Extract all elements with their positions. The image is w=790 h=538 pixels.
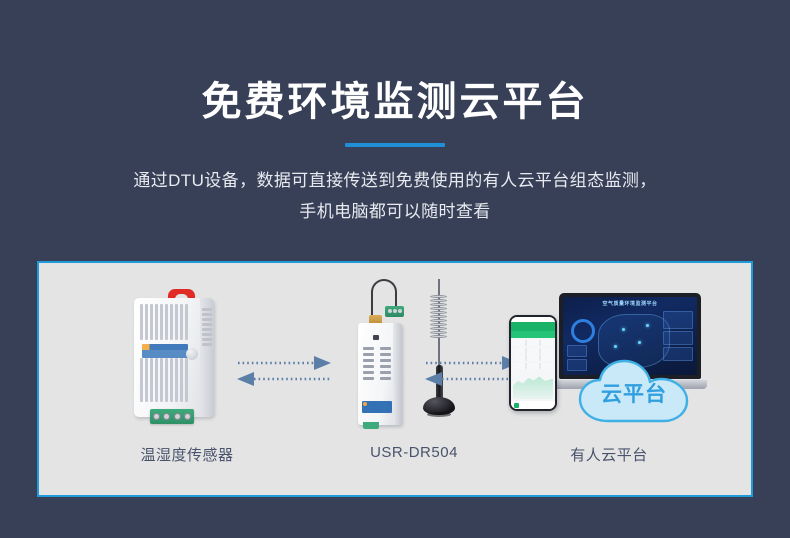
antenna-magnetic-base: [423, 397, 455, 415]
sensor-screw-knob: [186, 348, 198, 360]
caption-sensor: 温湿度传感器: [97, 444, 277, 465]
dtu-terminal-block: [385, 306, 404, 317]
dashboard-gauge-ring: [571, 319, 595, 343]
sensor-vents-bottom: [140, 358, 192, 402]
page-title: 免费环境监测云平台: [0, 78, 790, 126]
phone-data-table: [511, 338, 555, 369]
dtu-led-indicators: [363, 347, 391, 380]
dashboard-panel-card: [663, 331, 693, 345]
phone-app-subheader: [511, 331, 555, 338]
sensor-vents-side: [202, 308, 212, 346]
sensor-body: [134, 298, 214, 417]
dashboard-map-dot: [646, 324, 649, 327]
sensor-vents-top: [140, 304, 192, 340]
dashboard-map-dot: [638, 341, 641, 344]
title-underline-accent: [345, 143, 445, 147]
diagram-stage: 空气质量环境监测平台: [39, 263, 751, 495]
bidirectional-arrow-icon: [234, 353, 334, 391]
dtu-brand-label: [362, 401, 392, 413]
topology-diagram-panel: 空气质量环境监测平台: [37, 261, 753, 497]
table-row: [513, 348, 553, 354]
phone-app-header: [511, 322, 555, 331]
cloud-badge-label: 云平台: [577, 378, 691, 408]
sensor-terminal-block: [150, 409, 194, 424]
data-flow-arrows-dtu-to-cloud: [422, 353, 522, 391]
hero-subtitle: 通过DTU设备，数据可直接传送到免费使用的有人云平台组态监测， 手机电脑都可以随…: [75, 165, 715, 227]
data-flow-arrows-sensor-to-dtu: [234, 353, 334, 391]
hero-subtitle-line-2: 手机电脑都可以随时查看: [75, 196, 715, 227]
hero-header: 免费环境监测云平台 通过DTU设备，数据可直接传送到免费使用的有人云平台组态监测…: [0, 0, 790, 227]
cloud-platform-illustration: 空气质量环境监测平台: [509, 289, 709, 429]
dashboard-title: 空气质量环境监测平台: [602, 300, 657, 307]
cloud-badge: 云平台: [577, 359, 691, 425]
dashboard-panel-card: [663, 311, 693, 329]
bidirectional-arrow-icon: [422, 353, 522, 391]
hero-subtitle-line-1: 通过DTU设备，数据可直接传送到免费使用的有人云平台组态监测，: [75, 165, 715, 196]
caption-dtu: USR-DR504: [324, 444, 504, 461]
antenna-coil: [430, 295, 447, 339]
table-row: [513, 363, 553, 369]
table-row: [513, 355, 553, 361]
phone-area-chart: [513, 369, 553, 399]
dtu-din-rail-side: [393, 323, 402, 425]
dtu-reload-button: [373, 335, 379, 340]
dashboard-panel-card: [567, 345, 587, 357]
phone-screen: [511, 317, 555, 409]
phone-bottom-bar: [511, 401, 555, 409]
caption-cloud: 有人云平台: [509, 444, 709, 465]
table-row: [513, 340, 553, 346]
temperature-humidity-sensor-illustration: [132, 289, 218, 425]
smartphone-illustration: [509, 315, 557, 411]
dtu-body: [358, 323, 402, 425]
usr-dr504-dtu-illustration: [353, 279, 413, 429]
dtu-bottom-connector: [363, 422, 379, 429]
sensor-brand-label: [142, 344, 188, 358]
